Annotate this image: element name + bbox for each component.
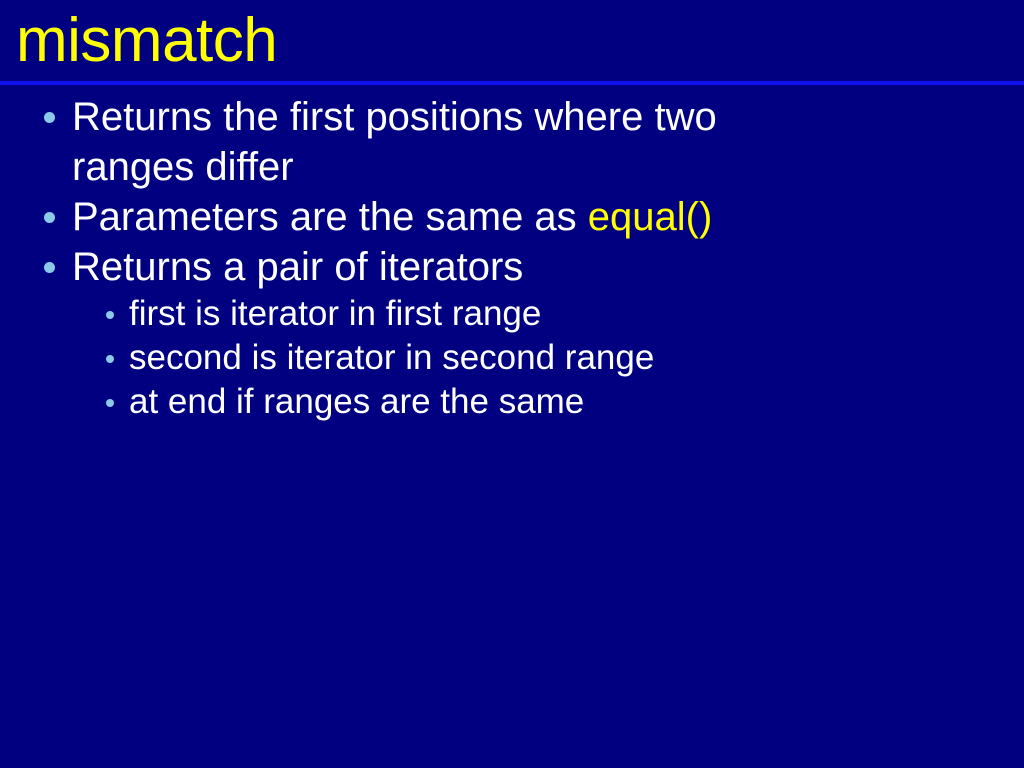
sub-bullet-dot-icon <box>106 311 114 319</box>
list-item-text: Parameters are the same as <box>72 195 588 239</box>
bullet-list: Returns the first positions where two ra… <box>0 92 1024 424</box>
list-item-label: Returns a pair of iterators <box>72 242 523 292</box>
list-item: Returns the first positions where two ra… <box>0 92 1024 192</box>
bullet-dot-icon <box>44 262 55 273</box>
list-item-line-2: ranges differ <box>72 142 717 192</box>
sub-bullet-dot-icon <box>106 399 114 407</box>
bullet-dot-icon <box>44 212 55 223</box>
sub-bullet-dot-icon <box>106 355 114 363</box>
code-reference-equal: equal() <box>588 195 713 239</box>
list-item-label: Returns the first positions where two ra… <box>72 92 717 192</box>
bullet-dot-icon <box>44 112 55 123</box>
sub-list-item: at end if ranges are the same <box>0 380 1024 424</box>
sub-list-item: first is iterator in first range <box>0 292 1024 336</box>
sub-list-item-label: first is iterator in first range <box>129 292 541 336</box>
list-item: Parameters are the same as equal() <box>0 192 1024 242</box>
slide-canvas: mismatch Returns the first positions whe… <box>0 0 1024 768</box>
list-item-line-1: Returns the first positions where two <box>72 92 717 142</box>
sub-list-item-label: second is iterator in second range <box>129 336 654 380</box>
list-item-label: Parameters are the same as equal() <box>72 192 712 242</box>
title-divider <box>0 81 1024 85</box>
list-item: Returns a pair of iterators <box>0 242 1024 292</box>
sub-list-item: second is iterator in second range <box>0 336 1024 380</box>
sub-list-item-label: at end if ranges are the same <box>129 380 584 424</box>
page-title: mismatch <box>16 4 277 78</box>
